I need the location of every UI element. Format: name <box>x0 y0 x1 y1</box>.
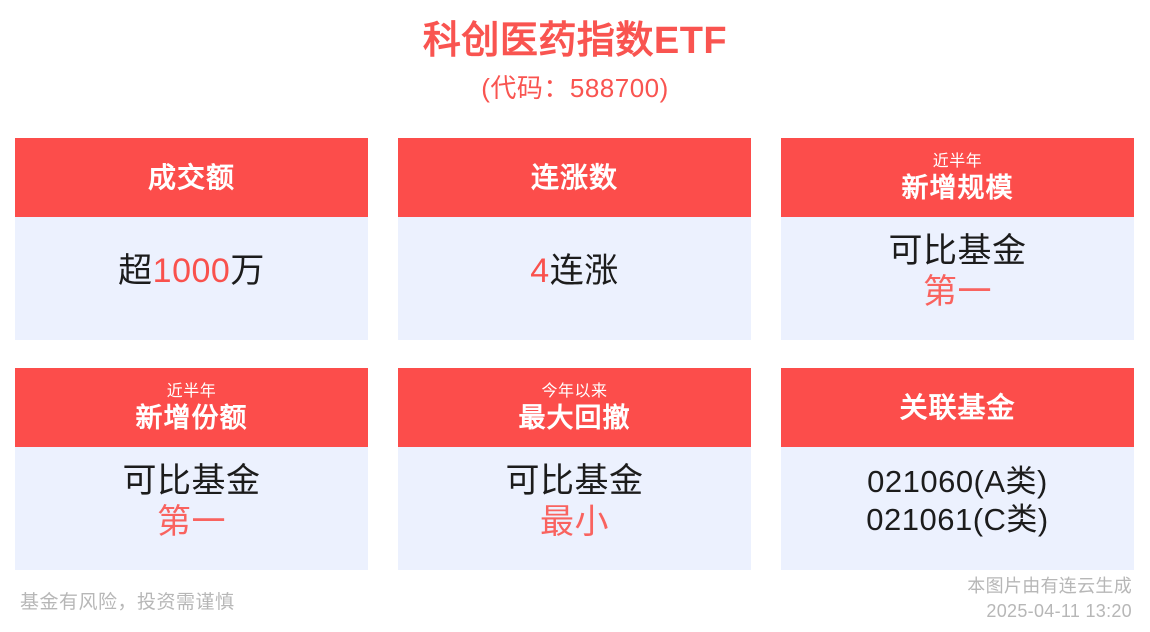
card-body: 021060(A类) 021061(C类) <box>781 447 1134 570</box>
metric-card-grid: 成交额 超1000万 连涨数 4连涨 近半年 新增规模 可比基金 第一 <box>15 138 1135 570</box>
generation-credit: 本图片由有连云生成 2025-04-11 13:20 <box>967 574 1132 624</box>
generation-timestamp: 2025-04-11 13:20 <box>967 599 1132 624</box>
etf-poster: 科创医药指数ETF (代码：588700) 成交额 超1000万 连涨数 4连涨… <box>0 0 1150 632</box>
card-header-title: 新增份额 <box>136 402 248 434</box>
metric-card-new-scale: 近半年 新增规模 可比基金 第一 <box>781 138 1134 340</box>
metric-card-max-drawdown: 今年以来 最大回撤 可比基金 最小 <box>398 368 751 570</box>
value-highlight: 4 <box>530 252 549 290</box>
value-prefix: 超 <box>118 252 153 290</box>
value-suffix: 万 <box>230 252 265 290</box>
card-value-line: 超1000万 <box>118 250 265 292</box>
metric-card-consecutive-gains: 连涨数 4连涨 <box>398 138 751 340</box>
generation-source: 本图片由有连云生成 <box>967 574 1132 599</box>
card-header-title: 新增规模 <box>902 172 1014 204</box>
card-body: 可比基金 最小 <box>398 447 751 570</box>
card-header-title: 连涨数 <box>531 161 618 195</box>
card-body: 可比基金 第一 <box>15 447 368 570</box>
card-value-line: 021060(A类) <box>867 463 1048 501</box>
card-body: 超1000万 <box>15 217 368 340</box>
card-header: 成交额 <box>15 138 368 217</box>
card-header-title: 关联基金 <box>899 391 1015 425</box>
value-highlight: 1000 <box>153 252 231 290</box>
card-header: 今年以来 最大回撤 <box>398 368 751 447</box>
poster-header: 科创医药指数ETF (代码：588700) <box>0 0 1150 106</box>
card-header: 关联基金 <box>781 368 1134 447</box>
card-header: 近半年 新增规模 <box>781 138 1134 217</box>
card-value-line: 可比基金 <box>123 460 261 502</box>
value-suffix: 连涨 <box>550 252 619 290</box>
risk-disclaimer: 基金有风险，投资需谨慎 <box>20 590 235 616</box>
card-header-title: 最大回撤 <box>519 402 631 434</box>
metric-card-new-shares: 近半年 新增份额 可比基金 第一 <box>15 368 368 570</box>
metric-card-linked-funds: 关联基金 021060(A类) 021061(C类) <box>781 368 1134 570</box>
card-header-title: 成交额 <box>148 161 235 195</box>
card-header-period: 近半年 <box>167 382 217 402</box>
card-value-line: 4连涨 <box>530 250 618 292</box>
card-header: 近半年 新增份额 <box>15 368 368 447</box>
card-value-rank: 第一 <box>157 502 226 542</box>
card-header-period: 近半年 <box>933 152 983 172</box>
card-body: 可比基金 第一 <box>781 217 1134 340</box>
metric-card-turnover: 成交额 超1000万 <box>15 138 368 340</box>
card-value-rank: 最小 <box>540 502 609 542</box>
fund-code-subtitle: (代码：588700) <box>0 70 1150 106</box>
card-value-rank: 第一 <box>923 272 992 312</box>
card-header: 连涨数 <box>398 138 751 217</box>
card-value-line: 可比基金 <box>889 230 1027 272</box>
page-title: 科创医药指数ETF <box>0 18 1150 64</box>
card-value-line-secondary: 021061(C类) <box>866 501 1048 539</box>
card-body: 4连涨 <box>398 217 751 340</box>
card-header-period: 今年以来 <box>541 382 607 402</box>
card-value-line: 可比基金 <box>506 460 644 502</box>
